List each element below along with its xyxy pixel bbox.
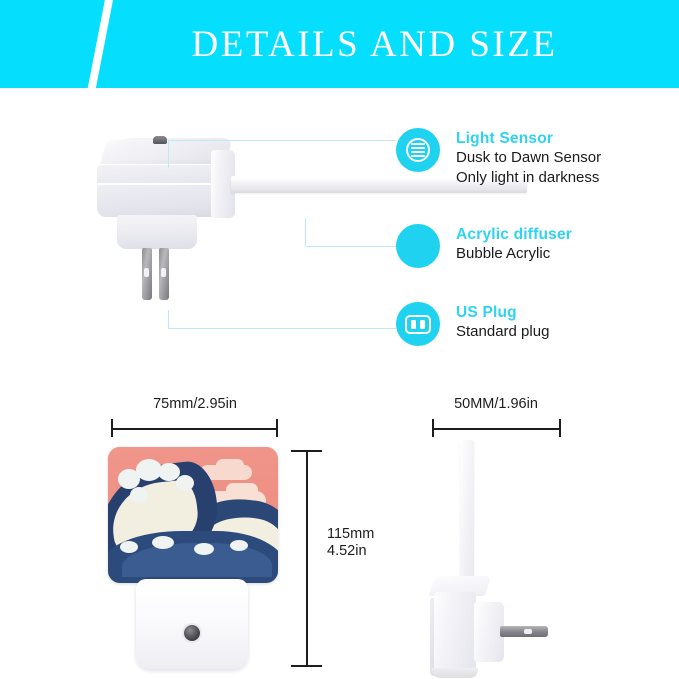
light-sensor-icon [396,128,440,172]
leader-line-sensor-vertical [168,140,169,168]
front-view-base [136,579,248,669]
header-banner: DETAILS AND SIZE [0,0,679,88]
annotation-title: Light Sensor [456,129,601,148]
housing-body-lower [97,185,221,217]
annotation-line-1: Bubble Acrylic [456,244,572,264]
annotation-acrylic-diffuser: Acrylic diffuser Bubble Acrylic [396,224,572,268]
dimension-line-height [306,450,308,666]
annotation-title: Acrylic diffuser [456,225,572,244]
acrylic-diffuser-icon [396,224,440,268]
plug-prong-hole-left [144,268,149,277]
artwork-wave-crest [120,541,138,553]
artwork-cloud [216,459,244,472]
side-view-foot [432,668,478,678]
dimension-cap-height-top [291,450,322,452]
dimension-cap-depth-left [432,419,434,437]
annotation-line-1: Dusk to Dawn Sensor [456,148,601,168]
page-title: DETAILS AND SIZE [0,0,679,88]
dimension-cap-width-left [111,419,113,437]
dimension-line-front-width [111,428,277,430]
annotation-line-1: Standard plug [456,322,549,342]
artwork-wave-crest [194,543,214,555]
annotation-light-sensor: Light Sensor Dusk to Dawn Sensor Only li… [396,128,601,187]
product-detail-image: DETAILS AND SIZE Light Sensor [0,0,679,679]
annotation-text-block: Acrylic diffuser Bubble Acrylic [456,224,572,264]
night-light-side-view [424,440,594,676]
outlet-glyph [405,315,431,334]
dimension-cap-depth-right [559,419,561,437]
plug-base [117,215,197,249]
side-view-body [434,592,476,678]
annotation-text-block: Light Sensor Dusk to Dawn Sensor Only li… [456,128,601,187]
dimension-label-side-depth: 50MM/1.96in [416,396,576,413]
dimension-label-front-width: 75mm/2.95in [110,396,280,413]
artwork-wave-crest [152,536,174,549]
leader-line-diffuser-horizontal [305,246,396,247]
side-view-prong-hole [524,629,532,634]
leader-line-diffuser-vertical [305,218,306,246]
dimension-cap-height-bottom [291,665,322,667]
annotation-title: US Plug [456,303,549,322]
artwork-cloud [226,483,258,497]
annotation-text-block: US Plug Standard plug [456,302,549,342]
plug-prong-hole-right [161,268,166,277]
sensor-glyph [406,138,430,162]
leader-line-plug-horizontal [168,328,396,329]
leader-line-sensor-horizontal [168,140,396,141]
artwork-foam [176,475,194,491]
dimension-line-side-depth [432,428,560,430]
dimension-label-height-mm: 115mm [327,526,374,543]
annotation-us-plug: US Plug Standard plug [396,302,549,346]
leader-line-plug-vertical [168,310,169,328]
front-view-sensor [184,625,200,641]
annotation-line-2: Only light in darkness [456,168,601,188]
dimension-cap-width-right [276,419,278,437]
artwork-panel-great-wave [108,447,278,583]
night-light-front-view [108,447,283,672]
night-light-angled-view [85,130,385,330]
us-plug-icon [396,302,440,346]
side-view-panel-edge [460,440,474,582]
artwork-wave-crest [230,540,248,551]
dimension-label-height-in: 4.52in [327,543,367,560]
sensor-nub [153,136,167,144]
artwork-foam [130,487,148,503]
